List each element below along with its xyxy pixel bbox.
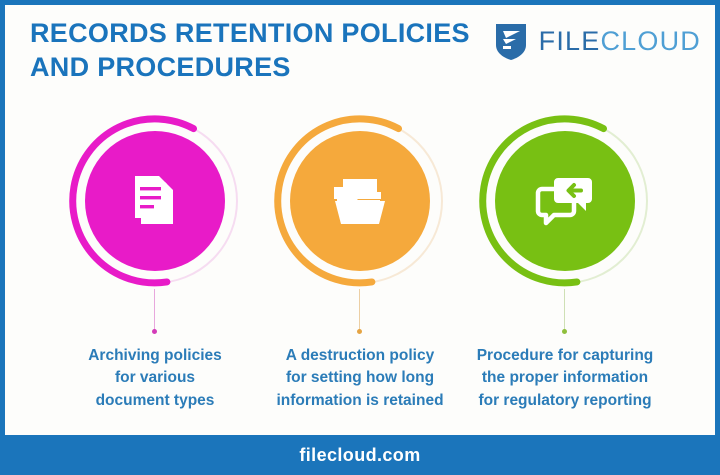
page-title-line-1: RECORDS RETENTION POLICIES (30, 17, 500, 51)
file-tray-folder-icon (272, 113, 448, 289)
caption-line: A destruction policy (247, 345, 473, 367)
caption-line: Archiving policies (42, 345, 268, 367)
caption-archiving-policies: Archiving policies for various document … (42, 345, 268, 412)
node-archiving-policies (50, 109, 260, 339)
caption-line: information is retained (247, 390, 473, 412)
caption-line: for regulatory reporting (452, 390, 678, 412)
node-destruction-policy (255, 109, 465, 339)
header: RECORDS RETENTION POLICIES AND PROCEDURE… (5, 5, 715, 105)
caption-line: for setting how long (247, 367, 473, 389)
brand-logo-file: FILE (539, 26, 601, 56)
node-ring-1 (272, 113, 448, 289)
icon-circles-row (5, 109, 715, 339)
node-connector-2 (564, 289, 565, 335)
brand-logo-text: FILECLOUD (539, 26, 701, 57)
footer-bar: filecloud.com (0, 435, 720, 475)
infographic-poster: RECORDS RETENTION POLICIES AND PROCEDURE… (0, 0, 720, 475)
caption-line: for various (42, 367, 268, 389)
node-connector-0 (154, 289, 155, 335)
shield-icon (494, 21, 528, 61)
node-connector-1 (359, 289, 360, 335)
page-title: RECORDS RETENTION POLICIES AND PROCEDURE… (30, 17, 500, 85)
caption-line: document types (42, 390, 268, 412)
caption-line: Procedure for capturing (452, 345, 678, 367)
node-ring-0 (67, 113, 243, 289)
brand-logo-cloud: CLOUD (600, 26, 701, 56)
caption-destruction-policy: A destruction policy for setting how lon… (247, 345, 473, 412)
brand-logo: FILECLOUD (494, 21, 701, 61)
document-pages-icon (67, 113, 243, 289)
chat-bubbles-arrow-icon (477, 113, 653, 289)
node-ring-2 (477, 113, 653, 289)
node-regulatory-reporting (460, 109, 670, 339)
page-title-line-2: AND PROCEDURES (30, 51, 500, 85)
caption-line: the proper information (452, 367, 678, 389)
poster-canvas: RECORDS RETENTION POLICIES AND PROCEDURE… (5, 5, 715, 435)
caption-regulatory-reporting: Procedure for capturing the proper infor… (452, 345, 678, 412)
captions-row: Archiving policies for various document … (5, 345, 715, 425)
footer-website[interactable]: filecloud.com (299, 445, 420, 466)
